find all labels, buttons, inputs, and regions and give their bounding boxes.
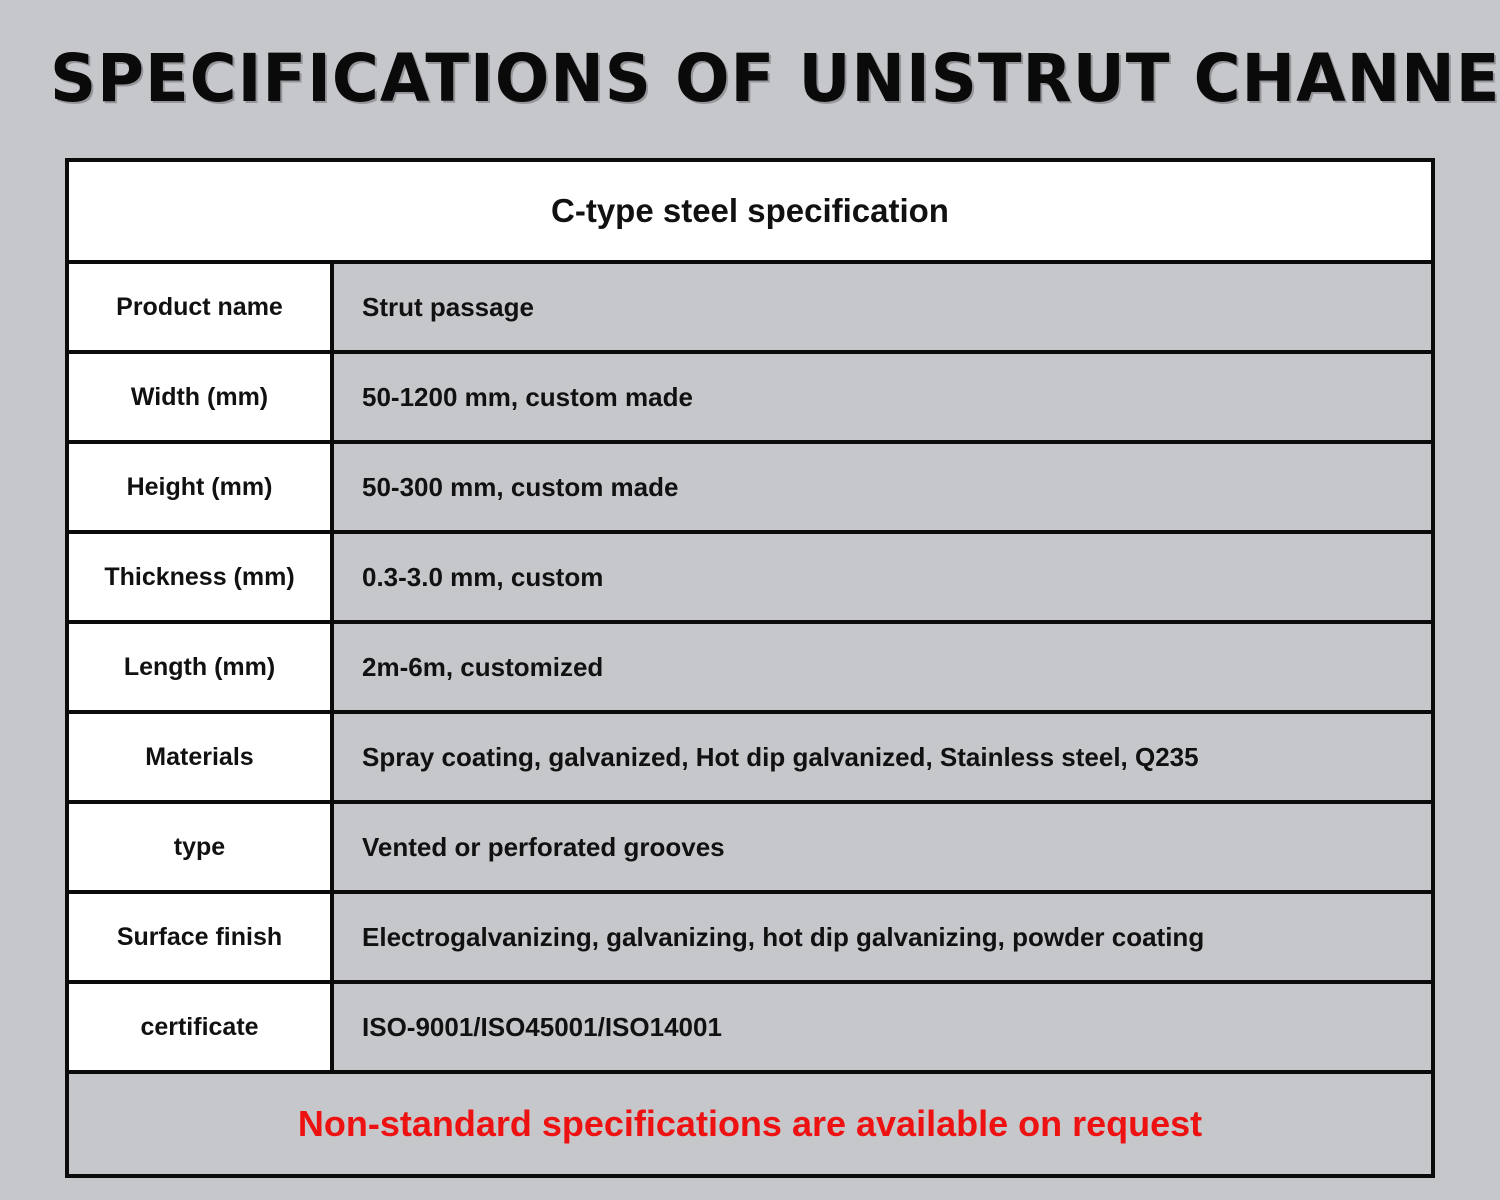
row-label-length: Length (mm)	[69, 622, 332, 712]
row-value-type: Vented or perforated grooves	[332, 802, 1431, 892]
non-standard-note: Non-standard specifications are availabl…	[69, 1072, 1431, 1174]
row-value-certificate: ISO-9001/ISO45001/ISO14001	[332, 982, 1431, 1072]
row-label-type: type	[69, 802, 332, 892]
row-label-thickness: Thickness (mm)	[69, 532, 332, 622]
row-value-width: 50-1200 mm, custom made	[332, 352, 1431, 442]
row-value-surface-finish: Electrogalvanizing, galvanizing, hot dip…	[332, 892, 1431, 982]
row-label-width: Width (mm)	[69, 352, 332, 442]
table-header-title: C-type steel specification	[69, 162, 1431, 262]
row-value-length: 2m-6m, customized	[332, 622, 1431, 712]
row-label-height: Height (mm)	[69, 442, 332, 532]
table-body: C-type steel specification Product name …	[69, 162, 1431, 1174]
row-label-certificate: certificate	[69, 982, 332, 1072]
table-header-row: C-type steel specification	[69, 162, 1431, 262]
table-row: certificate ISO-9001/ISO45001/ISO14001	[69, 982, 1431, 1072]
row-label-surface-finish: Surface finish	[69, 892, 332, 982]
row-label-materials: Materials	[69, 712, 332, 802]
specifications-table: C-type steel specification Product name …	[65, 158, 1435, 1178]
table-row: Thickness (mm) 0.3-3.0 mm, custom	[69, 532, 1431, 622]
table-row: Surface finish Electrogalvanizing, galva…	[69, 892, 1431, 982]
table-row: Height (mm) 50-300 mm, custom made	[69, 442, 1431, 532]
table-row: Width (mm) 50-1200 mm, custom made	[69, 352, 1431, 442]
table-row: Length (mm) 2m-6m, customized	[69, 622, 1431, 712]
row-value-materials: Spray coating, galvanized, Hot dip galva…	[332, 712, 1431, 802]
table-footer-row: Non-standard specifications are availabl…	[69, 1072, 1431, 1174]
table-row: Materials Spray coating, galvanized, Hot…	[69, 712, 1431, 802]
row-value-thickness: 0.3-3.0 mm, custom	[332, 532, 1431, 622]
table-row: Product name Strut passage	[69, 262, 1431, 352]
table-row: type Vented or perforated grooves	[69, 802, 1431, 892]
row-value-height: 50-300 mm, custom made	[332, 442, 1431, 532]
row-label-product-name: Product name	[69, 262, 332, 352]
specification-sheet: SPECIFICATIONS OF UNISTRUT CHANNEL C-typ…	[0, 0, 1500, 1200]
row-value-product-name: Strut passage	[332, 262, 1431, 352]
page-title: SPECIFICATIONS OF UNISTRUT CHANNEL	[50, 40, 1418, 118]
